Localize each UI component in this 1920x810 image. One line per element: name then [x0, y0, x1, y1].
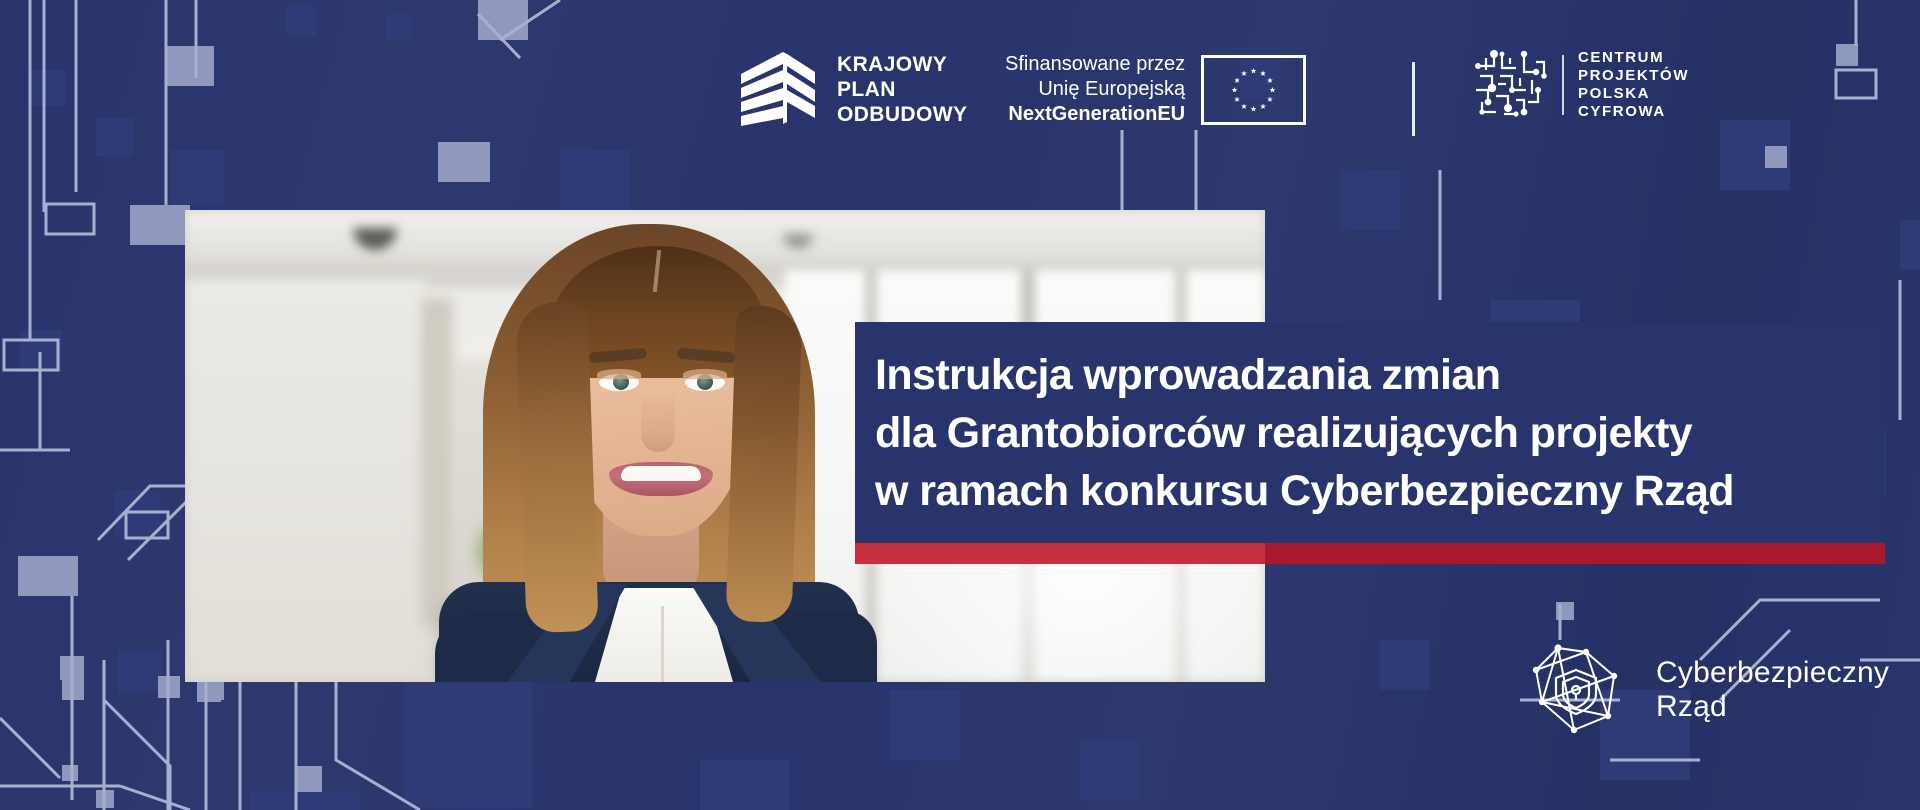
cyberbezpieczny-rzad-logo: Cyberbezpieczny Rząd: [1528, 640, 1889, 740]
eu-line-2: Unię Europejską: [1005, 77, 1185, 102]
eu-line-3: NextGenerationEU: [1005, 102, 1185, 127]
cppc-logo-text: CENTRUM PROJEKTÓW POLSKA CYFROWA: [1578, 49, 1689, 121]
accent-bar-overlay: [855, 543, 1265, 564]
poland-circuit-map-icon: [1468, 46, 1548, 124]
cppc-logo: CENTRUM PROJEKTÓW POLSKA CYFROWA: [1468, 46, 1689, 124]
page-title-line-2: dla Grantobiorców realizujących projekty: [875, 404, 1885, 462]
cppc-line-2: PROJEKTÓW: [1578, 67, 1689, 85]
page-title-line-1: Instrukcja wprowadzania zmian: [875, 346, 1885, 404]
kpo-logo-text: KRAJOWY PLAN ODBUDOWY: [837, 52, 967, 127]
brand-line-1: Cyberbezpieczny: [1656, 656, 1889, 690]
page-title-line-3: w ramach konkursu Cyberbezpieczny Rząd: [875, 462, 1885, 520]
hero-title-block: Instrukcja wprowadzania zmian dla Granto…: [855, 322, 1885, 544]
cyberbezpieczny-rzad-text: Cyberbezpieczny Rząd: [1656, 656, 1889, 724]
cppc-line-4: CYFROWA: [1578, 103, 1689, 121]
funding-logo-bar: KRAJOWY PLAN ODBUDOWY Sfinansowane przez…: [0, 22, 1920, 122]
brand-line-2: Rząd: [1656, 690, 1889, 724]
kpo-line-1: KRAJOWY: [837, 52, 967, 77]
cppc-line-1: CENTRUM: [1578, 49, 1689, 67]
eu-funding-logo: Sfinansowane przez Unię Europejską NextG…: [1005, 52, 1306, 127]
cppc-line-3: POLSKA: [1578, 85, 1689, 103]
eu-flag-icon: [1201, 55, 1306, 125]
kpo-line-2: PLAN: [837, 77, 967, 102]
kpo-line-3: ODBUDOWY: [837, 102, 967, 127]
eu-funding-text: Sfinansowane przez Unię Europejską NextG…: [1005, 52, 1185, 127]
kpo-banner: Instrukcja wprowadzania zmian dla Granto…: [0, 0, 1920, 810]
logo-divider: [1412, 62, 1415, 136]
eu-line-1: Sfinansowane przez: [1005, 52, 1185, 77]
building-icon: [735, 50, 817, 128]
cppc-logo-divider: [1562, 55, 1564, 115]
cyberbezpieczny-rzad-shield-network-icon: [1528, 640, 1634, 740]
kpo-logo: KRAJOWY PLAN ODBUDOWY: [735, 50, 967, 128]
